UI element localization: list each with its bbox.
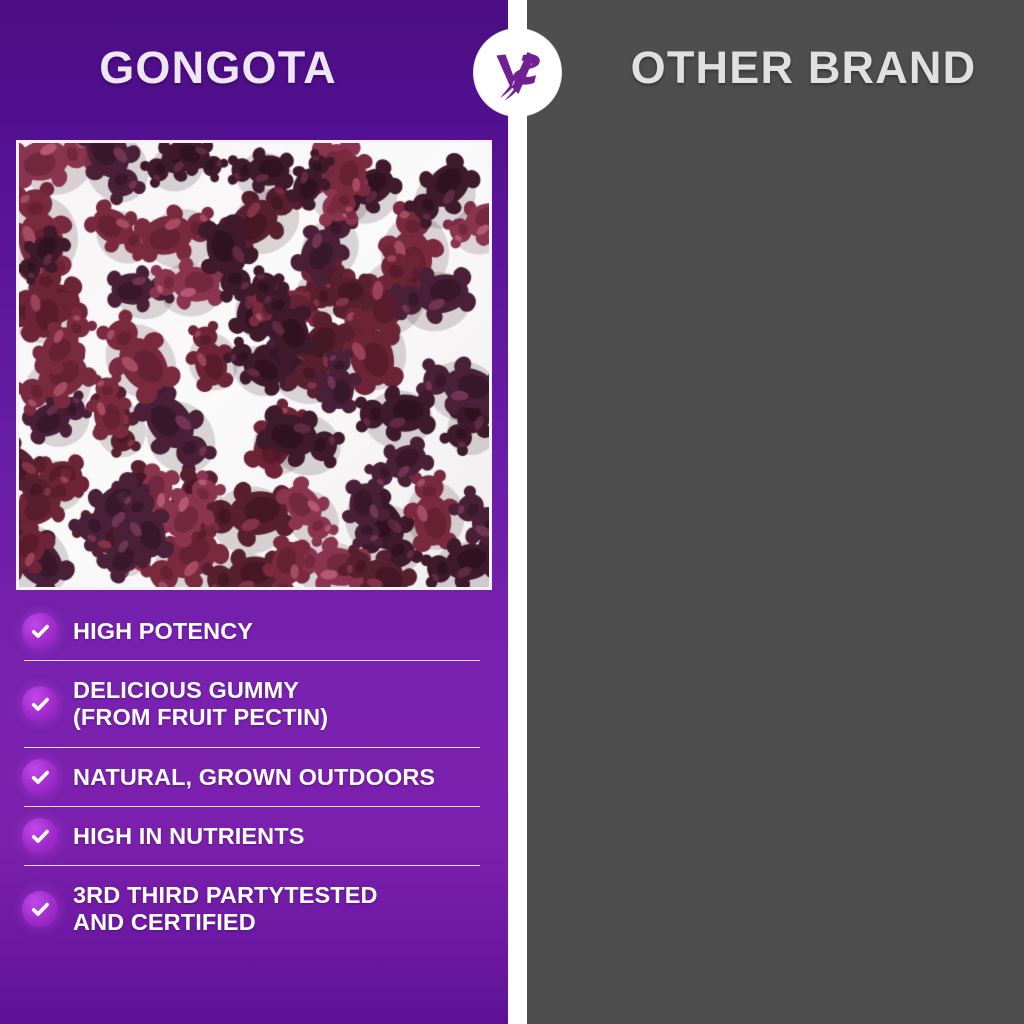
- check-icon: [30, 826, 51, 847]
- check-icon: [22, 759, 58, 795]
- gongota-header: GONGOTA: [0, 0, 508, 134]
- feature-label: HIGH POTENCY: [73, 618, 253, 645]
- check-icon: [30, 767, 51, 788]
- gongota-panel: HIGH POTENCYDELICIOUS GUMMY (FROM FRUIT …: [0, 0, 508, 1024]
- check-icon: [30, 694, 51, 715]
- feature-divider: [24, 660, 480, 661]
- check-icon: [22, 891, 58, 927]
- feature-row: HIGH IN NUTRIENTS: [22, 807, 482, 865]
- vs-badge: [474, 29, 561, 116]
- check-icon: [30, 899, 51, 920]
- panel-separator: [508, 0, 527, 1024]
- other-brand-header: OTHER BRAND: [527, 0, 1024, 134]
- gongota-gummy-image: [19, 143, 489, 587]
- check-icon: [22, 686, 58, 722]
- feature-row: HIGH POTENCY: [22, 602, 482, 660]
- feature-divider: [24, 806, 480, 807]
- other-brand-panel: INEFFECTIVEGELATIN, CANDY COATED WITHPOV…: [508, 0, 1024, 1024]
- check-icon: [30, 621, 51, 642]
- gongota-feature-list: HIGH POTENCYDELICIOUS GUMMY (FROM FRUIT …: [0, 602, 508, 952]
- check-icon: [22, 818, 58, 854]
- gongota-product-photo: [16, 140, 492, 590]
- check-icon: [22, 613, 58, 649]
- feature-row: NATURAL, GROWN OUTDOORS: [22, 748, 482, 806]
- feature-label: HIGH IN NUTRIENTS: [73, 823, 304, 850]
- feature-divider: [24, 865, 480, 866]
- vs-icon: [483, 38, 553, 108]
- feature-divider: [24, 747, 480, 748]
- feature-label: 3RD THIRD PARTYTESTED AND CERTIFIED: [73, 882, 378, 936]
- other-brand-title: OTHER BRAND: [631, 45, 977, 90]
- feature-label: NATURAL, GROWN OUTDOORS: [73, 764, 435, 791]
- comparison-infographic: HIGH POTENCYDELICIOUS GUMMY (FROM FRUIT …: [0, 0, 1024, 1024]
- gongota-brand-title: GONGOTA: [99, 45, 337, 90]
- feature-row: 3RD THIRD PARTYTESTED AND CERTIFIED: [22, 866, 482, 952]
- feature-row: DELICIOUS GUMMY (FROM FRUIT PECTIN): [22, 661, 482, 747]
- feature-label: DELICIOUS GUMMY (FROM FRUIT PECTIN): [73, 677, 328, 731]
